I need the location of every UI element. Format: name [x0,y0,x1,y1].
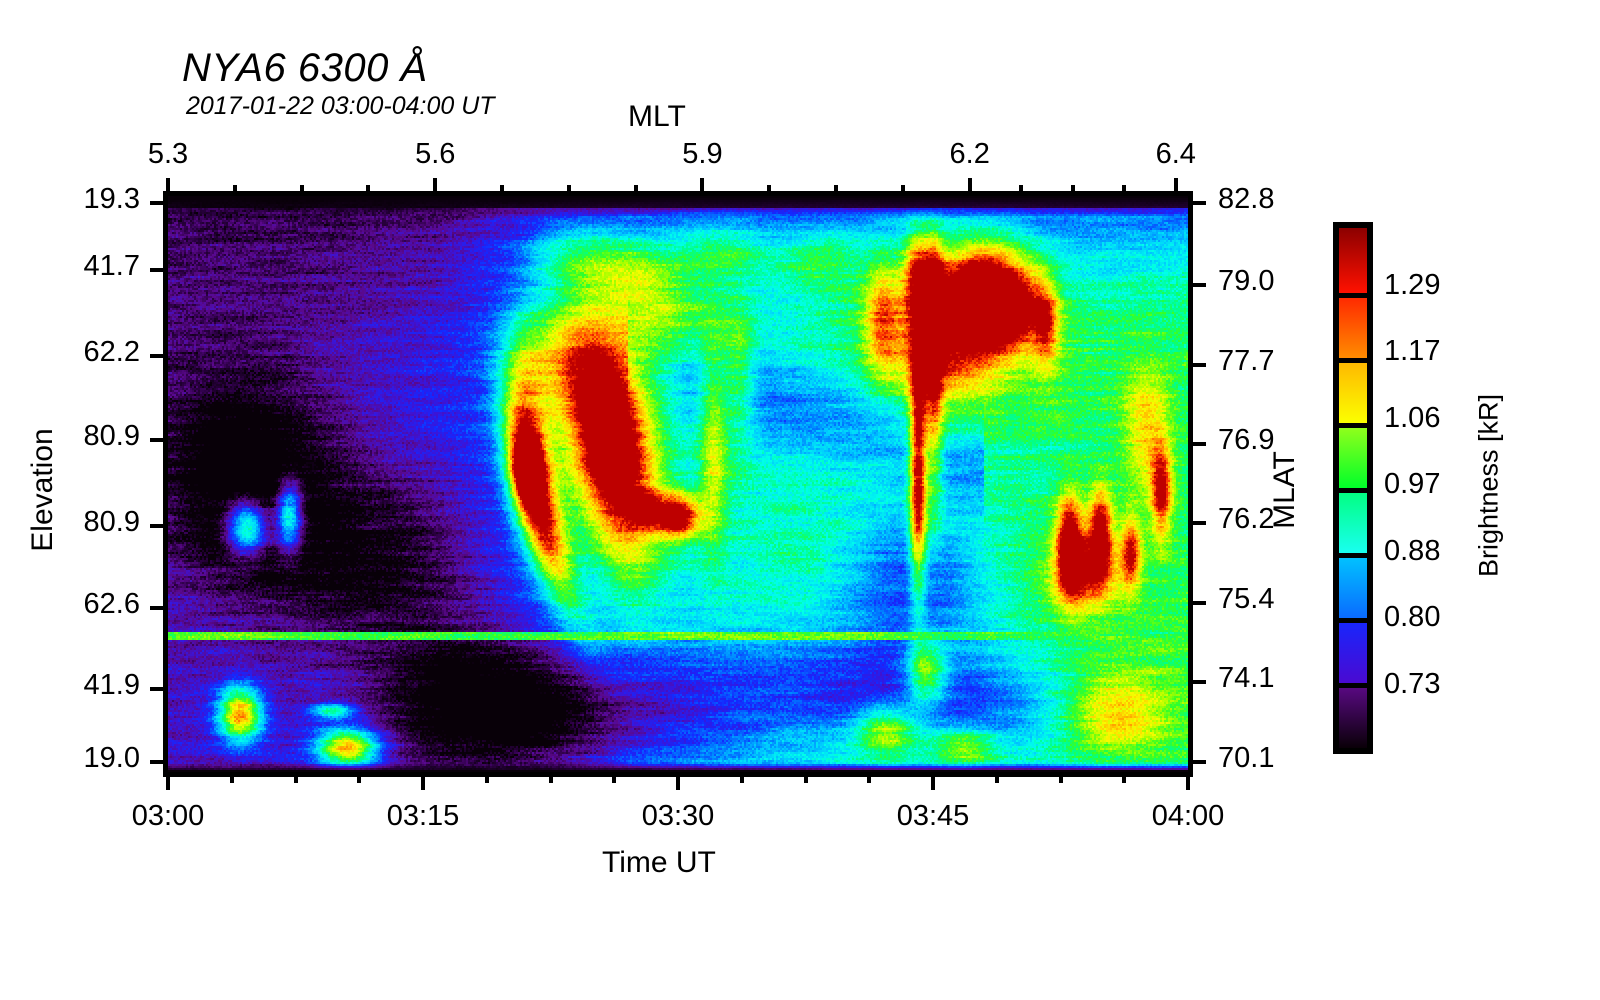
colorbar-tick-label-6: 0.73 [1384,668,1440,701]
colorbar-tick-label-4: 0.88 [1384,535,1440,568]
mlat-major-tick-3 [1188,442,1206,446]
mlt-minor-tick [300,185,304,196]
x-tick-label-1: 03:15 [343,800,503,833]
x-minor-tick [740,772,744,783]
elev-tick-label-7: 19.0 [20,742,140,775]
elev-major-tick-3 [150,438,168,442]
x-minor-tick [1122,772,1126,783]
page-subtitle: 2017-01-22 03:00-04:00 UT [186,92,495,121]
mlat-tick-label-2: 77.7 [1218,345,1338,378]
colorbar-axis-title: Brightness [kR] [1474,371,1505,601]
colorbar [1333,222,1373,754]
mlt-major-tick-2 [700,178,704,196]
elev-major-tick-2 [150,354,168,358]
colorbar-divider-1 [1339,293,1367,298]
mlt-major-tick-1 [433,178,437,196]
elev-tick-label-2: 62.2 [20,336,140,369]
x-minor-tick [612,772,616,783]
mlat-major-tick-7 [1188,760,1206,764]
mlat-major-tick-4 [1188,521,1206,525]
colorbar-tick-label-0: 1.29 [1384,269,1440,302]
mlt-tick-label-0: 5.3 [108,138,228,171]
colorbar-divider-4 [1339,488,1367,493]
colorbar-divider-5 [1339,553,1367,558]
x-major-tick-4 [1186,772,1190,790]
colorbar-tick-label-1: 1.17 [1384,335,1440,368]
elev-major-tick-1 [150,268,168,272]
top-axis-title: MLT [628,100,686,134]
mlt-tick-label-1: 5.6 [375,138,495,171]
mlt-tick-label-4: 6.4 [1116,138,1236,171]
mlat-major-tick-6 [1188,680,1206,684]
colorbar-tick-label-3: 0.97 [1384,468,1440,501]
mlt-minor-tick [366,185,370,196]
mlt-minor-tick [1122,185,1126,196]
mlt-minor-tick [1019,185,1023,196]
elev-tick-label-6: 41.9 [20,669,140,702]
mlat-major-tick-1 [1188,283,1206,287]
elev-major-tick-6 [150,687,168,691]
x-major-tick-3 [931,772,935,790]
mlt-minor-tick [1071,185,1075,196]
x-minor-tick [1059,772,1063,783]
x-tick-label-3: 03:45 [853,800,1013,833]
x-minor-tick [294,772,298,783]
colorbar-divider-7 [1339,683,1367,688]
mlat-tick-label-7: 70.1 [1218,742,1338,775]
page-title: NYA6 6300 Å [182,46,428,91]
elev-major-tick-7 [150,760,168,764]
mlat-major-tick-0 [1188,201,1206,205]
colorbar-segment-1 [1339,293,1367,358]
elev-tick-label-5: 62.6 [20,588,140,621]
x-tick-label-2: 03:30 [598,800,758,833]
colorbar-segment-3 [1339,423,1367,488]
mlat-tick-label-0: 82.8 [1218,183,1338,216]
elev-tick-label-4: 80.9 [20,506,140,539]
x-minor-tick [549,772,553,783]
colorbar-divider-3 [1339,423,1367,428]
x-minor-tick [804,772,808,783]
mlat-tick-label-4: 76.2 [1218,503,1338,536]
colorbar-divider-6 [1339,618,1367,623]
colorbar-segment-5 [1339,553,1367,618]
mlt-minor-tick [233,185,237,196]
x-major-tick-1 [421,772,425,790]
elev-tick-label-3: 80.9 [20,420,140,453]
x-minor-tick [995,772,999,783]
x-tick-label-4: 04:00 [1108,800,1268,833]
elev-major-tick-4 [150,524,168,528]
mlt-minor-tick [634,185,638,196]
colorbar-segment-7 [1339,683,1367,748]
colorbar-divider-2 [1339,358,1367,363]
elev-tick-label-0: 19.3 [20,183,140,216]
mlt-major-tick-0 [166,178,170,196]
mlt-minor-tick [834,185,838,196]
x-minor-tick [230,772,234,783]
x-major-tick-2 [676,772,680,790]
colorbar-segment-2 [1339,358,1367,423]
keogram-plot-area [168,196,1188,772]
colorbar-tick-label-5: 0.80 [1384,601,1440,634]
mlat-major-tick-5 [1188,601,1206,605]
x-tick-label-0: 03:00 [88,800,248,833]
x-minor-tick [867,772,871,783]
mlt-tick-label-2: 5.9 [642,138,762,171]
mlt-minor-tick [767,185,771,196]
elev-major-tick-5 [150,606,168,610]
mlt-tick-label-3: 6.2 [910,138,1030,171]
mlt-minor-tick [901,185,905,196]
colorbar-segment-0 [1339,228,1367,293]
mlat-tick-label-6: 74.1 [1218,662,1338,695]
mlt-minor-tick [567,185,571,196]
x-major-tick-0 [166,772,170,790]
x-minor-tick [357,772,361,783]
mlat-tick-label-1: 79.0 [1218,265,1338,298]
elev-tick-label-1: 41.7 [20,250,140,283]
mlt-major-tick-3 [968,178,972,196]
elev-major-tick-0 [150,201,168,205]
mlt-minor-tick [500,185,504,196]
colorbar-tick-label-2: 1.06 [1384,402,1440,435]
mlat-tick-label-5: 75.4 [1218,583,1338,616]
colorbar-segment-4 [1339,488,1367,553]
mlat-tick-label-3: 76.9 [1218,424,1338,457]
x-axis-title: Time UT [602,846,716,880]
colorbar-segment-6 [1339,618,1367,683]
mlt-major-tick-4 [1174,178,1178,196]
x-minor-tick [485,772,489,783]
mlat-major-tick-2 [1188,363,1206,367]
